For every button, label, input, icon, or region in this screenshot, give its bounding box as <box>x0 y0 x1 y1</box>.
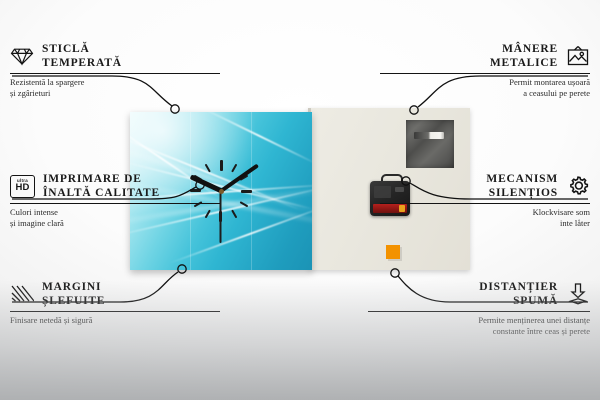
ultra-hd-icon-main: HD <box>15 183 29 193</box>
feature-handles-rule <box>380 73 590 74</box>
feature-mechanism-desc: Klockvisare som inte låter <box>380 207 590 229</box>
infographic-canvas: STICLĂ TEMPERATĂ Rezistentă la spargere … <box>0 0 600 400</box>
feature-spacer-head: DISTANȚIER SPUMĂ <box>368 280 590 308</box>
feature-glass-desc: Rezistentă la spargere și zgârieturi <box>10 77 220 99</box>
feature-edges-title: MARGINI ȘLEFUITE <box>42 280 105 308</box>
feature-glass-rule <box>10 73 220 74</box>
diamond-icon <box>10 44 34 68</box>
feature-edges: MARGINI ȘLEFUITE Finisare netedă și sigu… <box>10 280 220 326</box>
feature-print-head: ultra HD IMPRIMARE DE ÎNALTĂ CALITATE <box>10 172 220 200</box>
feature-edges-desc: Finisare netedă și sigură <box>10 315 220 326</box>
wall-mount-icon <box>566 44 590 68</box>
hanger-slot <box>414 132 444 139</box>
feature-spacer-rule <box>368 311 590 312</box>
foam-spacer-icon <box>566 282 590 306</box>
feature-spacer: DISTANȚIER SPUMĂ Permite menținerea unei… <box>368 280 590 337</box>
feature-mechanism-rule <box>380 203 590 204</box>
feature-spacer-title: DISTANȚIER SPUMĂ <box>479 280 558 308</box>
gear-icon <box>566 174 590 198</box>
foam-spacer-part <box>386 245 400 259</box>
feature-glass: STICLĂ TEMPERATĂ Rezistentă la spargere … <box>10 42 220 99</box>
ultra-hd-icon: ultra HD <box>10 175 35 198</box>
feature-print-title: IMPRIMARE DE ÎNALTĂ CALITATE <box>43 172 160 200</box>
feature-handles-title: MÂNERE METALICE <box>490 42 558 70</box>
metal-hanger-part <box>406 120 454 168</box>
feature-edges-head: MARGINI ȘLEFUITE <box>10 280 220 308</box>
feature-handles-desc: Permit montarea ușoară a ceasului pe per… <box>380 77 590 99</box>
feature-handles-head: MÂNERE METALICE <box>380 42 590 70</box>
feature-glass-title: STICLĂ TEMPERATĂ <box>42 42 122 70</box>
feature-edges-rule <box>10 311 220 312</box>
feature-mechanism-title: MECANISM SILENȚIOS <box>486 172 558 200</box>
feature-print: ultra HD IMPRIMARE DE ÎNALTĂ CALITATE Cu… <box>10 172 220 229</box>
feature-print-desc: Culori intense și imagine clară <box>10 207 220 229</box>
feature-mechanism-head: MECANISM SILENȚIOS <box>380 172 590 200</box>
feature-mechanism: MECANISM SILENȚIOS Klockvisare som inte … <box>380 172 590 229</box>
feature-handles: MÂNERE METALICE Permit montarea ușoară a… <box>380 42 590 99</box>
feature-print-rule <box>10 203 220 204</box>
feature-spacer-desc: Permite menținerea unei distanțe constan… <box>368 315 590 337</box>
polished-edges-icon <box>10 282 34 306</box>
feature-glass-head: STICLĂ TEMPERATĂ <box>10 42 220 70</box>
